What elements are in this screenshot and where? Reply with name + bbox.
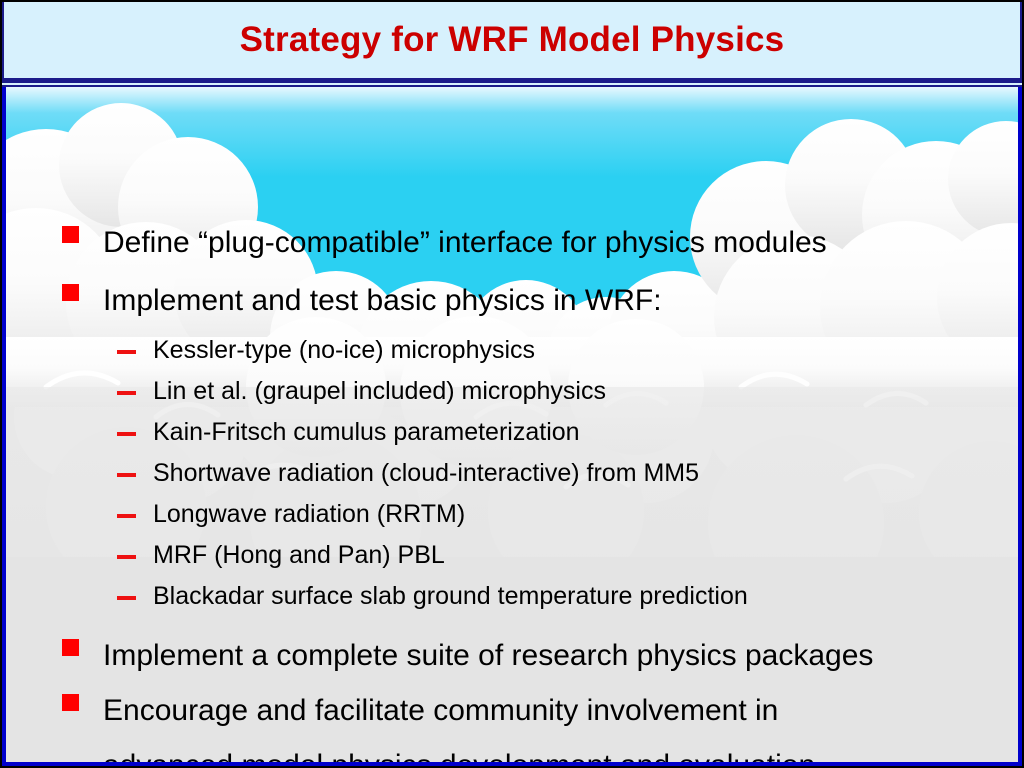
sub-bullet-text: Blackadar surface slab ground temperatur… xyxy=(153,579,748,613)
sub-bullet-item: MRF (Hong and Pan) PBL xyxy=(117,538,997,572)
bullet-text: Implement and test basic physics in WRF: xyxy=(103,273,662,328)
dash-bullet-icon xyxy=(117,350,136,354)
bullet-item: Implement a complete suite of research p… xyxy=(62,628,1002,683)
dash-bullet-icon xyxy=(117,432,136,436)
dash-bullet-icon xyxy=(117,514,136,518)
sub-bullet-item: Lin et al. (graupel included) microphysi… xyxy=(117,374,997,408)
sub-bullet-item: Blackadar surface slab ground temperatur… xyxy=(117,579,997,613)
square-bullet-icon xyxy=(62,639,79,656)
bullet-item: Implement and test basic physics in WRF: xyxy=(62,273,982,328)
sub-bullet-text: Longwave radiation (RRTM) xyxy=(153,497,465,531)
bullet-item: Define “plug-compatible” interface for p… xyxy=(62,215,982,270)
square-bullet-icon xyxy=(62,284,79,301)
sub-bullet-item: Shortwave radiation (cloud-interactive) … xyxy=(117,456,997,490)
title-divider-thin xyxy=(2,85,1022,87)
sub-bullet-text: Shortwave radiation (cloud-interactive) … xyxy=(153,456,699,490)
sub-bullet-item: Kain-Fritsch cumulus parameterization xyxy=(117,415,997,449)
dash-bullet-icon xyxy=(117,596,136,600)
square-bullet-icon xyxy=(62,694,79,711)
presentation-slide: Strategy for WRF Model Physics xyxy=(0,0,1024,768)
slide-body: Define “plug-compatible” interface for p… xyxy=(2,87,1022,766)
slide-content: Define “plug-compatible” interface for p… xyxy=(6,87,1018,762)
bullet-text: Encourage and facilitate community invol… xyxy=(103,683,815,766)
slide-title-band: Strategy for WRF Model Physics xyxy=(2,2,1022,78)
sub-bullet-item: Kessler-type (no-ice) microphysics xyxy=(117,333,997,367)
slide-title: Strategy for WRF Model Physics xyxy=(240,20,785,60)
square-bullet-icon xyxy=(62,226,79,243)
sub-bullet-text: Lin et al. (graupel included) microphysi… xyxy=(153,374,606,408)
dash-bullet-icon xyxy=(117,473,136,477)
bullet-item: Encourage and facilitate community invol… xyxy=(62,683,1002,766)
bullet-text: Define “plug-compatible” interface for p… xyxy=(103,215,827,270)
sub-bullet-text: MRF (Hong and Pan) PBL xyxy=(153,538,445,572)
dash-bullet-icon xyxy=(117,391,136,395)
sub-bullet-text: Kessler-type (no-ice) microphysics xyxy=(153,333,535,367)
sub-bullet-item: Longwave radiation (RRTM) xyxy=(117,497,997,531)
bullet-text: Implement a complete suite of research p… xyxy=(103,628,873,683)
sub-bullet-text: Kain-Fritsch cumulus parameterization xyxy=(153,415,580,449)
dash-bullet-icon xyxy=(117,555,136,559)
